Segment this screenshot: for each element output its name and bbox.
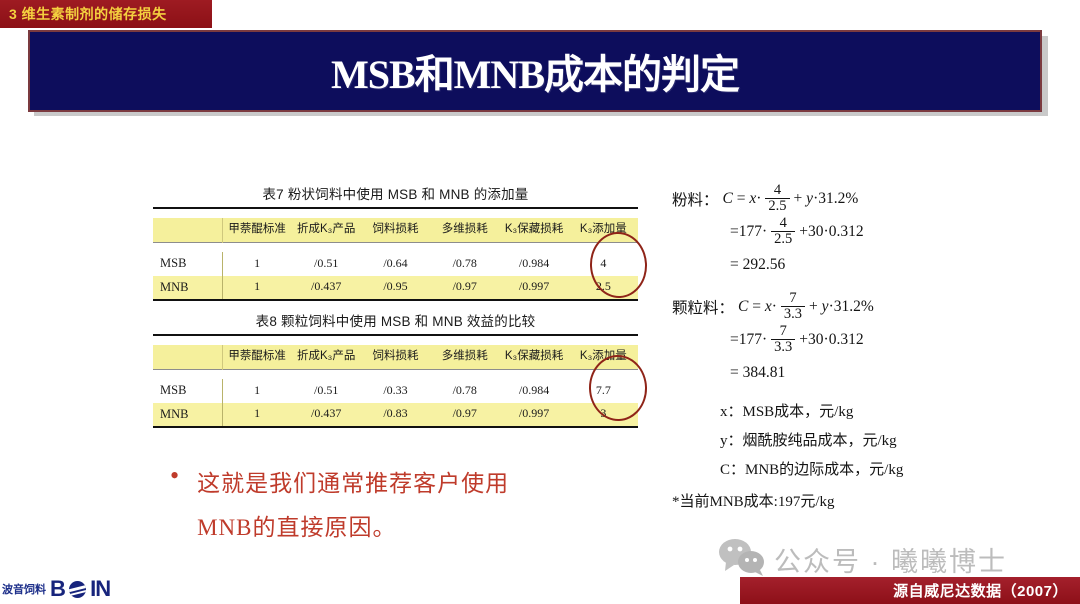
legend-item-y: y：烟酰胺纯品成本，元/kg <box>720 427 1072 456</box>
pellet-frac2-num: 7 <box>777 324 790 339</box>
pellet-eq-2: = <box>730 331 739 349</box>
pellet-fraction-2: 7 3.3 <box>771 324 795 355</box>
table-8-col-5: K₃保藏损耗 <box>499 345 568 370</box>
table-8-row-0-cell-2: /0.33 <box>361 379 430 402</box>
table-7-row-1-label: MNB <box>153 276 222 300</box>
table-7-col-1: 甲萘醌标准 <box>222 218 291 243</box>
conclusion-line-2: MNB的直接原因。 <box>197 506 509 550</box>
powder-percent: 31.2% <box>818 190 858 208</box>
section-banner: 3 维生素制剂的储存损失 <box>0 0 212 28</box>
powder-frac2-den: 2.5 <box>771 231 795 247</box>
table-7-row-0-cell-0: 1 <box>222 252 291 275</box>
table-7-row-0-label: MSB <box>153 252 222 275</box>
bullet-dot-icon: • <box>170 464 179 488</box>
table-7-row-1-cell-1: /0.437 <box>292 276 361 300</box>
table-8-col-3: 饲料损耗 <box>361 345 430 370</box>
mnb-cost-note: *当前MNB成本:197元/kg <box>672 488 1072 517</box>
table-8-col-4: 多维损耗 <box>430 345 499 370</box>
pellet-label: 颗粒料： <box>672 296 734 318</box>
table-7-col-0 <box>153 218 222 243</box>
wechat-icon <box>718 538 766 581</box>
conclusion-text: 这就是我们通常推荐客户使用 MNB的直接原因。 <box>197 462 509 550</box>
conclusion-line-1: 这就是我们通常推荐客户使用 <box>197 462 509 506</box>
table-7-row-0-cell-5: 4 <box>569 252 638 275</box>
table-7-row-0-cell-3: /0.78 <box>430 252 499 275</box>
powder-coef-1: 177 <box>739 223 762 241</box>
table-7-block: 表7 粉状饲料中使用 MSB 和 MNB 的添加量 甲萘醌标准 折成K₃产品 饲… <box>153 183 638 310</box>
watermark: 公众号 · 曦曦博士 <box>718 538 1007 581</box>
globe-icon <box>69 581 86 598</box>
conclusion-bullet: • 这就是我们通常推荐客户使用 MNB的直接原因。 <box>170 462 600 550</box>
section-banner-label: 3 维生素制剂的储存损失 <box>9 4 167 24</box>
table-7-header-row: 甲萘醌标准 折成K₃产品 饲料损耗 多维损耗 K₃保藏损耗 K₃添加量 <box>153 218 638 243</box>
table-row: MSB 1 /0.51 /0.64 /0.78 /0.984 4 <box>153 252 638 275</box>
variable-legend: x：MSB成本，元/kg y：烟酰胺纯品成本，元/kg C：MNB的边际成本，元… <box>672 398 1072 517</box>
table-7-col-2: 折成K₃产品 <box>292 218 361 243</box>
table-7-row-1-cell-5: 2.5 <box>569 276 638 300</box>
source-label: 源自威尼达数据（2007） <box>893 580 1068 601</box>
pellet-percent: 31.2% <box>834 298 874 316</box>
table-7-row-0-cell-4: /0.984 <box>499 252 568 275</box>
table-7-row-1-cell-3: /0.97 <box>430 276 499 300</box>
table-8-row-1-cell-4: /0.997 <box>499 403 568 427</box>
table-row: MNB 1 /0.437 /0.83 /0.97 /0.997 3 <box>153 403 638 427</box>
table-8-row-1-cell-3: /0.97 <box>430 403 499 427</box>
pellet-frac2-den: 3.3 <box>771 339 795 355</box>
pellet-plus-2: + <box>799 331 808 349</box>
legend-item-c: C：MNB的边际成本，元/kg <box>720 456 1072 485</box>
powder-formula-group: 粉料： C = x · 4 2.5 + y · 31.2% = 177 · <box>672 182 1072 281</box>
table-7-row-1-cell-0: 1 <box>222 276 291 300</box>
powder-frac2-num: 4 <box>777 216 790 231</box>
pellet-formula-line-1: 颗粒料： C = x · 7 3.3 + y · 31.2% <box>672 290 1072 323</box>
table-7-col-5: K₃保藏损耗 <box>499 218 568 243</box>
table-8-header-row: 甲萘醌标准 折成K₃产品 饲料损耗 多维损耗 K₃保藏损耗 K₃添加量 <box>153 345 638 370</box>
pellet-dot-3: · <box>762 331 767 349</box>
powder-dot-3: · <box>762 223 767 241</box>
pellet-eq: = <box>752 298 761 316</box>
table-7-col-6: K₃添加量 <box>569 218 638 243</box>
powder-var-x: x <box>749 190 756 208</box>
brand-name-cn: 波音饲料 <box>2 581 46 597</box>
brand-letters-in: IN <box>90 576 110 601</box>
pellet-coef-1: 177 <box>739 331 762 349</box>
table-8-row-0-cell-0: 1 <box>222 379 291 402</box>
powder-formula-line-1: 粉料： C = x · 4 2.5 + y · 31.2% <box>672 182 1072 215</box>
powder-frac-den: 2.5 <box>765 198 789 214</box>
legend-item-x: x：MSB成本，元/kg <box>720 398 1072 427</box>
table-8-row-1-cell-2: /0.83 <box>361 403 430 427</box>
powder-eq-3: = <box>730 256 739 274</box>
table-7: 甲萘醌标准 折成K₃产品 饲料损耗 多维损耗 K₃保藏损耗 K₃添加量 MSB … <box>153 207 638 310</box>
table-7-col-4: 多维损耗 <box>430 218 499 243</box>
table-8-caption: 表8 颗粒饲料中使用 MSB 和 MNB 效益的比较 <box>153 310 638 330</box>
pellet-formula-line-2: = 177 · 7 3.3 + 30 · 0.312 <box>672 323 1072 356</box>
brand-logo: 波音饲料 B IN <box>2 576 110 602</box>
powder-fraction: 4 2.5 <box>765 183 789 214</box>
table-8-row-0-cell-4: /0.984 <box>499 379 568 402</box>
table-row: MSB 1 /0.51 /0.33 /0.78 /0.984 7.7 <box>153 379 638 402</box>
pellet-formula-group: 颗粒料： C = x · 7 3.3 + y · 31.2% = 177 · <box>672 290 1072 389</box>
pellet-var-y: y <box>822 298 829 316</box>
table-7-col-3: 饲料损耗 <box>361 218 430 243</box>
source-footer-bar: 源自威尼达数据（2007） <box>740 577 1080 604</box>
powder-var-y: y <box>806 190 813 208</box>
pellet-formula-line-3: = 384.81 <box>672 356 1072 389</box>
table-8: 甲萘醌标准 折成K₃产品 饲料损耗 多维损耗 K₃保藏损耗 K₃添加量 MSB … <box>153 334 638 437</box>
pellet-coef-3: 0.312 <box>829 331 864 349</box>
pellet-dot-1: · <box>772 298 777 316</box>
table-8-col-2: 折成K₃产品 <box>292 345 361 370</box>
powder-result: 292.56 <box>743 256 786 274</box>
table-8-row-0-cell-5: 7.7 <box>569 379 638 402</box>
table-7-caption: 表7 粉状饲料中使用 MSB 和 MNB 的添加量 <box>153 183 638 203</box>
powder-frac-num: 4 <box>771 183 784 198</box>
pellet-lhs: C <box>738 298 748 316</box>
powder-plus-2: + <box>799 223 808 241</box>
table-8-block: 表8 颗粒饲料中使用 MSB 和 MNB 效益的比较 甲萘醌标准 折成K₃产品 … <box>153 310 638 437</box>
pellet-fraction: 7 3.3 <box>781 291 805 322</box>
powder-eq: = <box>737 190 746 208</box>
powder-label: 粉料： <box>672 188 719 210</box>
powder-formula-line-2: = 177 · 4 2.5 + 30 · 0.312 <box>672 215 1072 248</box>
powder-coef-2: 30 <box>808 223 824 241</box>
pellet-frac-num: 7 <box>786 291 799 306</box>
table-7-row-1-cell-4: /0.997 <box>499 276 568 300</box>
pellet-coef-2: 30 <box>808 331 824 349</box>
brand-letter-b: B <box>50 576 65 601</box>
pellet-plus: + <box>809 298 818 316</box>
table-7-row-1-cell-2: /0.95 <box>361 276 430 300</box>
powder-plus: + <box>794 190 803 208</box>
page-title: MSB和MNB成本的判定 <box>331 42 739 100</box>
table-8-col-6: K₃添加量 <box>569 345 638 370</box>
powder-fraction-2: 4 2.5 <box>771 216 795 247</box>
watermark-text: 公众号 · 曦曦博士 <box>774 540 1007 579</box>
table-row: MNB 1 /0.437 /0.95 /0.97 /0.997 2.5 <box>153 276 638 300</box>
pellet-frac-den: 3.3 <box>781 306 805 322</box>
pellet-var-x: x <box>765 298 772 316</box>
table-8-row-0-cell-1: /0.51 <box>292 379 361 402</box>
powder-lhs: C <box>723 190 733 208</box>
pellet-eq-3: = <box>730 364 739 382</box>
table-7-row-0-cell-1: /0.51 <box>292 252 361 275</box>
table-8-row-0-cell-3: /0.78 <box>430 379 499 402</box>
table-8-row-1-label: MNB <box>153 403 222 427</box>
powder-formula-line-3: = 292.56 <box>672 248 1072 281</box>
table-8-row-1-cell-0: 1 <box>222 403 291 427</box>
table-8-row-1-cell-5: 3 <box>569 403 638 427</box>
table-8-col-0 <box>153 345 222 370</box>
table-8-col-1: 甲萘醌标准 <box>222 345 291 370</box>
brand-name-en: B IN <box>50 576 110 602</box>
slide-canvas: 3 维生素制剂的储存损失 MSB和MNB成本的判定 表7 粉状饲料中使用 MSB… <box>0 0 1080 604</box>
table-8-row-1-cell-1: /0.437 <box>292 403 361 427</box>
pellet-result: 384.81 <box>743 364 786 382</box>
table-7-row-0-cell-2: /0.64 <box>361 252 430 275</box>
powder-dot-1: · <box>756 190 761 208</box>
powder-eq-2: = <box>730 223 739 241</box>
table-8-row-0-label: MSB <box>153 379 222 402</box>
title-box: MSB和MNB成本的判定 <box>28 30 1042 112</box>
formula-column: 粉料： C = x · 4 2.5 + y · 31.2% = 177 · <box>672 182 1072 517</box>
powder-coef-3: 0.312 <box>829 223 864 241</box>
